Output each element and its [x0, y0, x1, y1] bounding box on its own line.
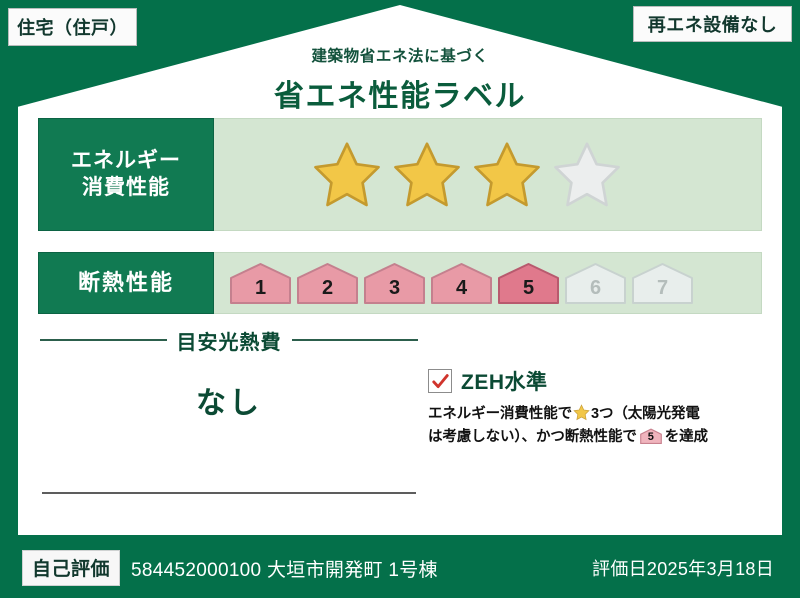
energy-consumption-label: エネルギー 消費性能	[38, 118, 214, 231]
zeh-desc-part4: を達成	[665, 429, 708, 445]
insulation-level-2: 2	[296, 262, 359, 304]
zeh-description: エネルギー消費性能で3つ（太陽光発電 は考慮しない）、かつ断熱性能で5を達成	[428, 403, 764, 450]
title-block: 建築物省エネ法に基づく 省エネ性能ラベル	[0, 44, 800, 115]
star-filled-icon	[470, 139, 544, 211]
inline-house-icon: 5	[639, 428, 663, 444]
insulation-level-value: 5	[523, 278, 534, 304]
insulation-level-value: 2	[322, 278, 333, 304]
energy-consumption-panel	[214, 118, 762, 231]
heading-rule-left	[40, 339, 167, 341]
zeh-desc-part2: 3つ（太陽光発電	[591, 406, 700, 422]
zeh-standard-block: ZEH水準 エネルギー消費性能で3つ（太陽光発電 は考慮しない）、かつ断熱性能で…	[428, 366, 764, 450]
insulation-performance-panel: 1234567	[214, 252, 762, 314]
insulation-label-text: 断熱性能	[78, 269, 174, 297]
energy-label-line1: エネルギー	[71, 148, 181, 175]
zeh-desc-part3: は考慮しない）、かつ断熱性能で	[428, 429, 637, 445]
insulation-level-value: 1	[255, 278, 266, 304]
heading-rule-right	[292, 339, 419, 341]
insulation-level-3: 3	[363, 262, 426, 304]
insulation-level-value: 6	[590, 278, 601, 304]
insulation-level-value: 7	[657, 278, 668, 304]
page-title: 省エネ性能ラベル	[0, 71, 800, 115]
utility-cost-bottom-rule	[42, 492, 416, 494]
energy-consumption-row: エネルギー 消費性能	[38, 118, 762, 231]
zeh-desc-part1: エネルギー消費性能で	[428, 406, 572, 422]
inline-star-icon	[573, 404, 590, 421]
inline-house-value: 5	[639, 428, 663, 444]
utility-cost-title: 目安光熱費	[177, 326, 282, 355]
check-icon	[431, 372, 450, 391]
energy-performance-label: 住宅（住戸） 再エネ設備なし 建築物省エネ法に基づく 省エネ性能ラベル エネルギ…	[0, 0, 800, 598]
insulation-level-value: 3	[389, 278, 400, 304]
renewable-equipment-tag: 再エネ設備なし	[633, 6, 792, 42]
insulation-level-1: 1	[229, 262, 292, 304]
utility-cost-value: なし	[40, 378, 418, 422]
building-id-and-address: 584452000100 大垣市開発町 1号棟	[131, 555, 438, 582]
dwelling-type-tag: 住宅（住戸）	[8, 8, 137, 46]
self-evaluation-badge: 自己評価	[22, 550, 120, 586]
insulation-level-7: 7	[631, 262, 694, 304]
star-filled-icon	[390, 139, 464, 211]
zeh-title: ZEH水準	[461, 366, 548, 396]
star-empty-icon	[550, 139, 624, 211]
evaluation-date: 評価日2025年3月18日	[592, 555, 774, 581]
insulation-performance-label: 断熱性能	[38, 252, 214, 314]
star-filled-icon	[310, 139, 384, 211]
utility-cost-heading: 目安光熱費	[40, 326, 418, 354]
insulation-level-4: 4	[430, 262, 493, 304]
label-footer: 自己評価 584452000100 大垣市開発町 1号棟 評価日2025年3月1…	[0, 538, 800, 598]
insulation-level-5: 5	[497, 262, 560, 304]
title-subtitle: 建築物省エネ法に基づく	[0, 44, 800, 66]
zeh-checkbox[interactable]	[428, 369, 452, 393]
star-rating	[310, 139, 624, 211]
zeh-heading: ZEH水準	[428, 366, 764, 396]
energy-label-line2: 消費性能	[82, 175, 170, 202]
insulation-level-6: 6	[564, 262, 627, 304]
insulation-level-value: 4	[456, 278, 467, 304]
insulation-performance-row: 断熱性能 1234567	[38, 252, 762, 314]
insulation-level-scale: 1234567	[229, 262, 694, 304]
